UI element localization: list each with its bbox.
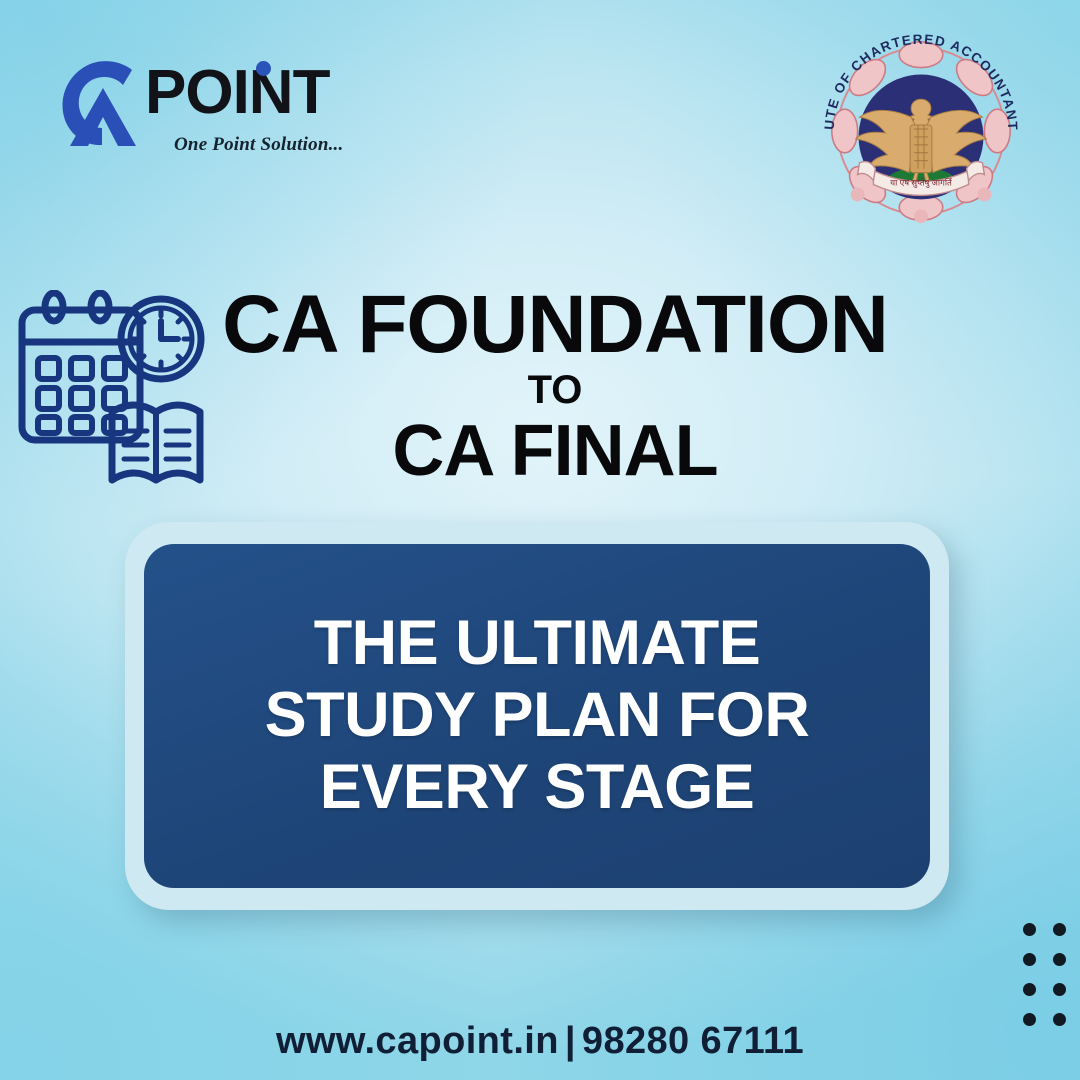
footer-phone[interactable]: 98280 67111 — [582, 1020, 804, 1062]
dot — [1053, 923, 1066, 936]
footer-separator: | — [559, 1020, 582, 1062]
brand-tagline: One Point Solution... — [174, 134, 343, 156]
headline-line-1: CA FOUNDATION — [0, 286, 1080, 365]
headline-group: CA FOUNDATION TO CA FINAL — [0, 286, 1080, 488]
dot — [1053, 953, 1066, 966]
dot — [1023, 983, 1036, 996]
footer-website[interactable]: www.capoint.in — [276, 1020, 559, 1062]
panel-line-2: STUDY PLAN FOR — [265, 680, 810, 752]
feature-panel-frame: THE ULTIMATE STUDY PLAN FOR EVERY STAGE — [125, 522, 949, 910]
headline-line-2: TO — [0, 365, 1080, 415]
feature-panel: THE ULTIMATE STUDY PLAN FOR EVERY STAGE — [144, 544, 930, 888]
emblem-motto: या एष सुप्तेषु जागर्ति — [890, 178, 953, 189]
dot — [1023, 953, 1036, 966]
footer-contact: www.capoint.in|98280 67111 — [0, 1020, 1080, 1063]
feature-panel-text: THE ULTIMATE STUDY PLAN FOR EVERY STAGE — [239, 608, 836, 823]
headline-line-3: CA FINAL — [0, 415, 1080, 488]
panel-line-3: EVERY STAGE — [265, 752, 810, 824]
poster-canvas: POINT One Point Solution... — [0, 0, 1080, 1080]
ca-monogram-icon — [48, 60, 154, 146]
dot — [1053, 983, 1066, 996]
brand-wordmark: POINT — [145, 62, 329, 124]
panel-line-1: THE ULTIMATE — [265, 608, 810, 680]
capoint-logo[interactable]: POINT One Point Solution... — [48, 58, 348, 168]
icai-emblem: THE INSTITUTE OF CHARTERED ACCOUNTANTS O… — [812, 22, 1030, 240]
dot — [1023, 923, 1036, 936]
brand-i-dot-icon — [256, 61, 271, 76]
